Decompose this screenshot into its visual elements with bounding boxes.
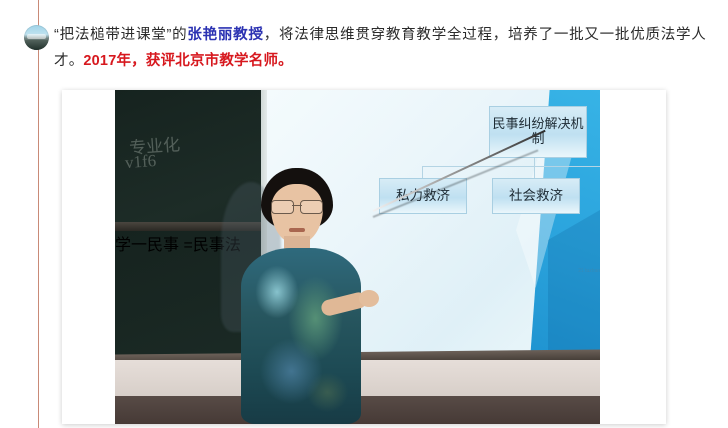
- paragraph-segment-1: “把法槌带进课堂”的: [54, 27, 187, 43]
- slide-watermark: 21 tuzhanzhe © 2017: [562, 268, 600, 275]
- diagram-connector-b: [534, 166, 535, 178]
- photo-card: 专业化 v1f6 学一民事 =民事法 民事纠纷解决机制: [62, 90, 666, 424]
- lecturer-figure: [235, 168, 385, 424]
- lecturer-face: [271, 184, 323, 244]
- article-text-block: “把法槌带进课堂”的张艳丽教授，将法律思维贯穿教育教学全过程，培养了一批又一批优…: [24, 22, 706, 74]
- article-paragraph: “把法槌带进课堂”的张艳丽教授，将法律思维贯穿教育教学全过程，培养了一批又一批优…: [24, 22, 706, 74]
- diagram-node-social-relief: 社会救济: [492, 178, 580, 214]
- chalk-text-3: 学一民事: [115, 237, 179, 254]
- glasses-icon: [271, 200, 323, 212]
- page-root: “把法槌带进课堂”的张艳丽教授，将法律思维贯穿教育教学全过程，培养了一批又一批优…: [0, 0, 728, 428]
- diagram-connector-bar: [422, 166, 600, 167]
- diagram-connector-a: [422, 166, 423, 178]
- lecturer-hand: [359, 290, 379, 307]
- lecturer-dress: [241, 248, 361, 424]
- lecturer-mouth: [289, 228, 305, 232]
- chalk-text-2: v1f6: [124, 151, 156, 173]
- award-highlight: 2017年，获评北京市教学名师。: [83, 53, 292, 69]
- professor-name-highlight: 张艳丽教授: [187, 27, 263, 43]
- portrait-thumbnail-icon: [24, 25, 49, 50]
- lecture-photo: 专业化 v1f6 学一民事 =民事法 民事纠纷解决机制: [115, 90, 600, 424]
